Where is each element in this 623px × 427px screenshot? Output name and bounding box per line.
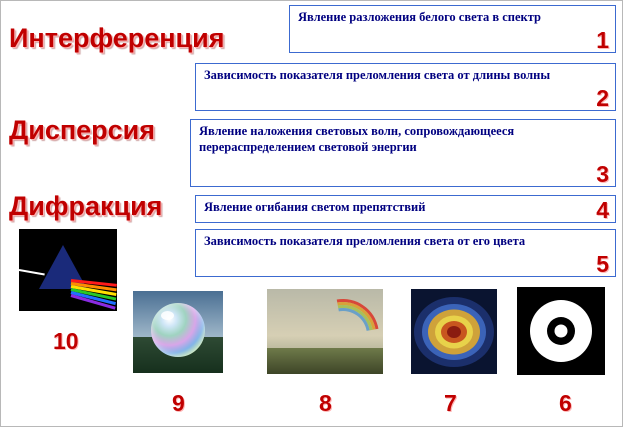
definition-text-4: Явление огибания светом препятствий — [204, 199, 581, 215]
definition-number-3: 3 — [596, 161, 609, 188]
definition-box-1: Явление разложения белого света в спектр… — [289, 5, 616, 53]
image-number-6: 6 — [559, 390, 572, 417]
definition-box-4: Явление огибания светом препятствий 4 — [195, 195, 616, 223]
center-dot — [555, 325, 568, 338]
bubble-highlight — [161, 311, 174, 320]
definition-number-5: 5 — [596, 251, 609, 278]
definition-box-5: Зависимость показателя преломления света… — [195, 229, 616, 277]
concentric-rings-photo — [411, 289, 497, 374]
definition-text-2: Зависимость показателя преломления света… — [204, 67, 581, 83]
photo-field — [267, 348, 383, 374]
soap-bubble — [151, 303, 205, 357]
term-dispersion: Дисперсия — [9, 115, 155, 146]
term-diffraction: Дифракция — [9, 191, 162, 222]
definition-number-4: 4 — [596, 197, 609, 224]
definition-number-1: 1 — [596, 27, 609, 54]
ring-center — [447, 326, 461, 338]
definition-box-3: Явление наложения световых волн, сопрово… — [190, 119, 616, 187]
soap-bubble-photo — [133, 291, 223, 373]
prism-dispersion-photo — [19, 229, 117, 311]
definition-number-2: 2 — [596, 85, 609, 112]
white-ring-diffraction-photo — [517, 287, 605, 375]
definition-text-3: Явление наложения световых волн, сопрово… — [199, 123, 581, 155]
rainbow-photo — [267, 289, 383, 374]
definition-text-1: Явление разложения белого света в спектр — [298, 9, 581, 25]
term-interference: Интерференция — [9, 23, 225, 54]
definition-box-2: Зависимость показателя преломления света… — [195, 63, 616, 111]
image-number-10: 10 — [53, 328, 79, 355]
image-number-7: 7 — [444, 390, 457, 417]
image-number-9: 9 — [172, 390, 185, 417]
definition-text-5: Зависимость показателя преломления света… — [204, 233, 581, 249]
worksheet-page: Интерференция Дисперсия Дифракция Явлени… — [0, 0, 623, 427]
image-number-8: 8 — [319, 390, 332, 417]
